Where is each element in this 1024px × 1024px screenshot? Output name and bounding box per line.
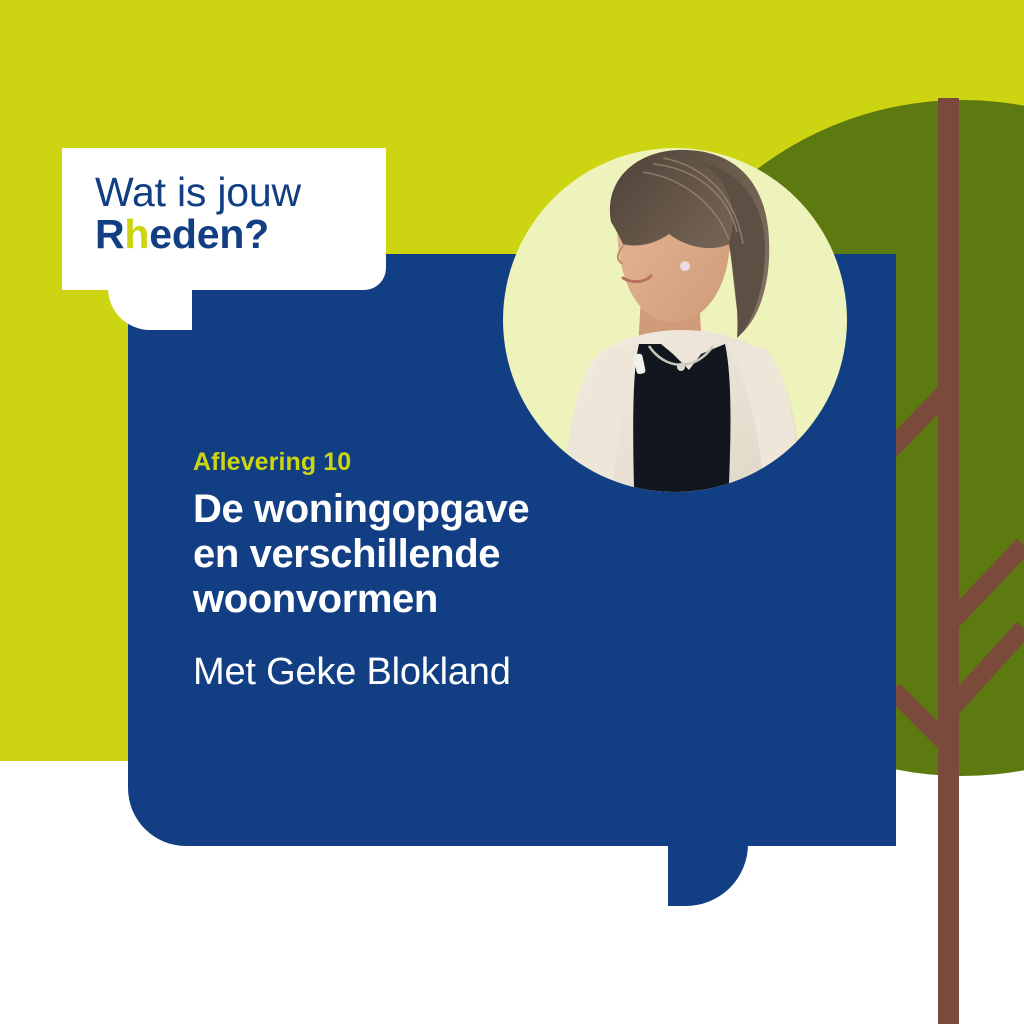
logo-accent-h: h bbox=[124, 211, 149, 257]
episode-guest-name: Met Geke Blokland bbox=[193, 651, 623, 694]
logo-suffix: eden? bbox=[149, 211, 269, 257]
episode-title-line-1: De woningopgave bbox=[193, 487, 529, 531]
portrait-circle-mask bbox=[503, 148, 847, 492]
episode-title-line-3: woonvormen bbox=[193, 577, 438, 621]
podcast-cover-poster: Wat is jouw Rheden? Aflevering 10 De won… bbox=[0, 0, 1024, 1024]
brand-logo: Wat is jouw Rheden? bbox=[95, 172, 375, 254]
episode-title: De woningopgaveen verschillendewoonvorme… bbox=[193, 487, 623, 623]
logo-line-1: Wat is jouw bbox=[95, 172, 375, 212]
white-speech-bubble-logo: Wat is jouw Rheden? bbox=[62, 148, 386, 290]
guest-portrait bbox=[503, 148, 847, 492]
tree-trunk-icon bbox=[938, 98, 959, 1024]
episode-number-label: Aflevering 10 bbox=[193, 448, 623, 477]
episode-title-line-2: en verschillende bbox=[193, 532, 500, 576]
earring-icon bbox=[680, 261, 690, 271]
episode-text-block: Aflevering 10 De woningopgaveen verschil… bbox=[193, 448, 623, 694]
logo-r: R bbox=[95, 211, 124, 257]
portrait-person-illustration bbox=[503, 148, 847, 492]
logo-line-2: Rheden? bbox=[95, 214, 375, 254]
